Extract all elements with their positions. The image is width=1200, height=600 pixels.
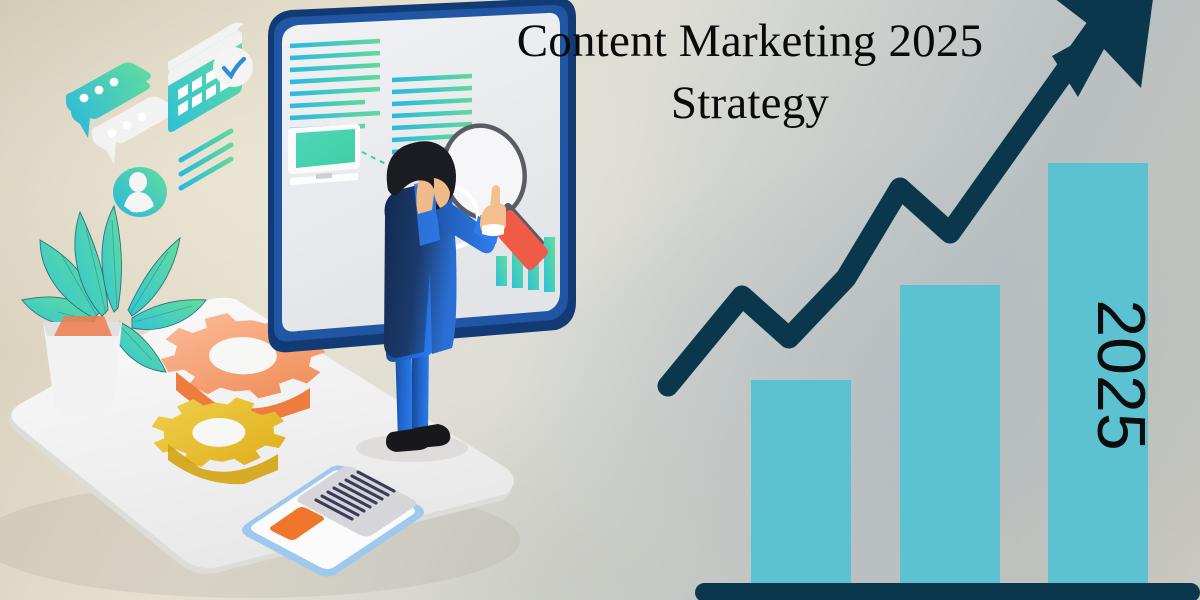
page-title: Content Marketing 2025 Strategy — [455, 10, 1045, 134]
chart-baseline — [695, 583, 1200, 600]
poster-canvas: 2025 Content Marketing 2025 Strategy — [0, 0, 1200, 600]
bar-2 — [900, 285, 1000, 584]
bar-value-label: 2025 — [1083, 299, 1159, 450]
bar-1 — [751, 380, 851, 584]
